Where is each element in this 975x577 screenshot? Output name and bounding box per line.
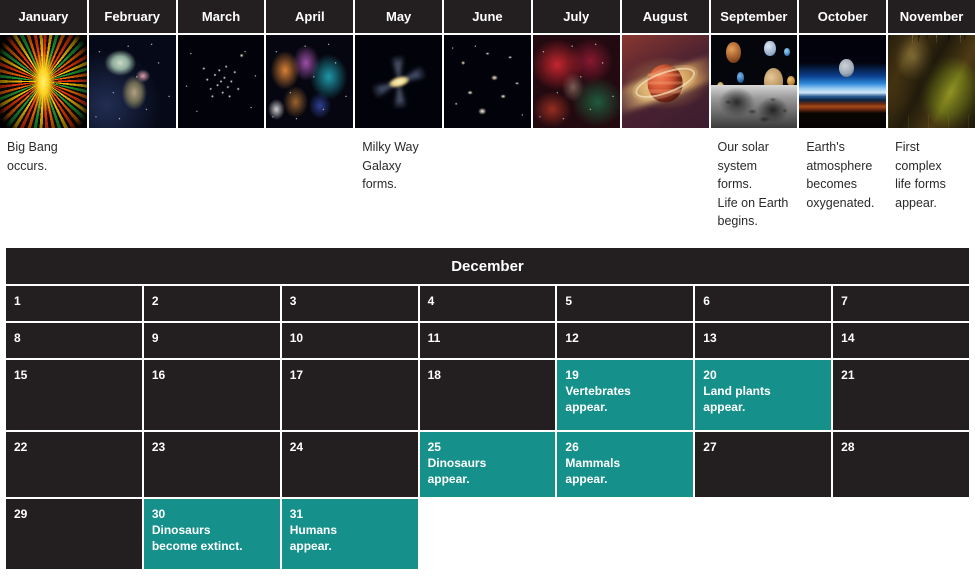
day-number: 21 — [841, 367, 961, 383]
december-title: December — [6, 248, 969, 284]
day-cell-26[interactable]: 26Mammals appear. — [557, 432, 693, 497]
star-cluster-image — [178, 35, 265, 128]
day-cell-6[interactable]: 6 — [695, 286, 831, 321]
day-number: 5 — [565, 293, 685, 309]
day-cell-19[interactable]: 19Vertebrates appear. — [557, 360, 693, 430]
planet-icon — [737, 72, 745, 83]
deep-field-galaxies-image — [444, 35, 531, 128]
day-number: 29 — [14, 506, 134, 522]
day-number: 28 — [841, 439, 961, 455]
day-number: 1 — [14, 293, 134, 309]
day-number: 4 — [428, 293, 548, 309]
day-cell-8[interactable]: 8 — [6, 323, 142, 358]
day-number: 3 — [290, 293, 410, 309]
month-column-march: March — [178, 0, 265, 231]
december-grid: 12345678910111213141516171819Vertebrates… — [6, 286, 969, 569]
day-number: 18 — [428, 367, 548, 383]
month-header-october[interactable]: October — [799, 0, 886, 33]
month-header-november[interactable]: November — [888, 0, 975, 33]
months-strip: JanuaryBig Bang occurs.FebruaryMarchApri… — [0, 0, 975, 231]
day-event-text: Dinosaurs appear. — [428, 455, 548, 487]
month-column-january: JanuaryBig Bang occurs. — [0, 0, 87, 231]
day-event-text: Humans appear. — [290, 522, 410, 554]
month-caption-november: First complex life forms appear. — [888, 138, 975, 212]
day-cell-empty — [420, 499, 556, 569]
month-caption-october: Earth's atmosphere becomes oxygenated. — [799, 138, 886, 212]
day-event-text: Dinosaurs become extinct. — [152, 522, 272, 554]
day-number: 26 — [565, 439, 685, 455]
day-number: 31 — [290, 506, 410, 522]
december-section: December 12345678910111213141516171819Ve… — [6, 248, 969, 569]
day-cell-3[interactable]: 3 — [282, 286, 418, 321]
day-number: 7 — [841, 293, 961, 309]
day-number: 27 — [703, 439, 823, 455]
day-number: 24 — [290, 439, 410, 455]
day-cell-10[interactable]: 10 — [282, 323, 418, 358]
spiral-galaxy-image — [355, 35, 442, 128]
month-column-september: SeptemberOur solar system forms. Life on… — [711, 0, 798, 231]
day-number: 13 — [703, 330, 823, 346]
complex-life-algae-image — [888, 35, 975, 128]
day-cell-5[interactable]: 5 — [557, 286, 693, 321]
day-number: 12 — [565, 330, 685, 346]
month-header-september[interactable]: September — [711, 0, 798, 33]
day-cell-13[interactable]: 13 — [695, 323, 831, 358]
day-cell-21[interactable]: 21 — [833, 360, 969, 430]
day-cell-28[interactable]: 28 — [833, 432, 969, 497]
day-cell-18[interactable]: 18 — [420, 360, 556, 430]
month-header-may[interactable]: May — [355, 0, 442, 33]
day-cell-31[interactable]: 31Humans appear. — [282, 499, 418, 569]
solar-system-planets-image — [711, 35, 798, 128]
day-number: 30 — [152, 506, 272, 522]
month-header-june[interactable]: June — [444, 0, 531, 33]
planet-icon — [726, 42, 741, 62]
day-number: 16 — [152, 367, 272, 383]
day-cell-15[interactable]: 15 — [6, 360, 142, 430]
day-number: 8 — [14, 330, 134, 346]
red-emission-nebula-image — [533, 35, 620, 128]
day-cell-empty — [695, 499, 831, 569]
nebula-pillar-image — [89, 35, 176, 128]
day-cell-2[interactable]: 2 — [144, 286, 280, 321]
day-number: 19 — [565, 367, 685, 383]
day-cell-empty — [833, 499, 969, 569]
month-header-march[interactable]: March — [178, 0, 265, 33]
day-number: 20 — [703, 367, 823, 383]
galaxy-cluster-image — [266, 35, 353, 128]
month-caption-january: Big Bang occurs. — [0, 138, 87, 175]
day-cell-11[interactable]: 11 — [420, 323, 556, 358]
stars-overlay — [89, 35, 176, 128]
day-number: 14 — [841, 330, 961, 346]
month-header-july[interactable]: July — [533, 0, 620, 33]
lunar-surface — [711, 85, 798, 128]
day-cell-22[interactable]: 22 — [6, 432, 142, 497]
month-header-february[interactable]: February — [89, 0, 176, 33]
stars-overlay — [266, 35, 353, 128]
day-number: 6 — [703, 293, 823, 309]
day-cell-20[interactable]: 20Land plants appear. — [695, 360, 831, 430]
day-event-text: Vertebrates appear. — [565, 383, 685, 415]
cosmic-calendar-page: JanuaryBig Bang occurs.FebruaryMarchApri… — [0, 0, 975, 577]
month-column-february: February — [89, 0, 176, 231]
day-number: 10 — [290, 330, 410, 346]
month-column-april: April — [266, 0, 353, 231]
day-cell-23[interactable]: 23 — [144, 432, 280, 497]
ringed-planet-forming-image — [622, 35, 709, 128]
day-cell-12[interactable]: 12 — [557, 323, 693, 358]
day-number: 9 — [152, 330, 272, 346]
day-cell-30[interactable]: 30Dinosaurs become extinct. — [144, 499, 280, 569]
day-cell-16[interactable]: 16 — [144, 360, 280, 430]
month-header-april[interactable]: April — [266, 0, 353, 33]
day-event-text: Land plants appear. — [703, 383, 823, 415]
month-column-may: MayMilky Way Galaxy forms. — [355, 0, 442, 231]
day-cell-24[interactable]: 24 — [282, 432, 418, 497]
day-cell-17[interactable]: 17 — [282, 360, 418, 430]
moon-icon — [839, 59, 854, 77]
day-event-text: Mammals appear. — [565, 455, 685, 487]
day-cell-9[interactable]: 9 — [144, 323, 280, 358]
day-number: 15 — [14, 367, 134, 383]
month-column-june: June — [444, 0, 531, 231]
stars-overlay — [533, 35, 620, 128]
day-cell-empty — [557, 499, 693, 569]
big-bang-explosion-image — [0, 35, 87, 128]
day-cell-1[interactable]: 1 — [6, 286, 142, 321]
day-number: 11 — [428, 330, 548, 346]
day-cell-4[interactable]: 4 — [420, 286, 556, 321]
month-column-august: August — [622, 0, 709, 231]
day-cell-29[interactable]: 29 — [6, 499, 142, 569]
day-cell-25[interactable]: 25Dinosaurs appear. — [420, 432, 556, 497]
day-number: 2 — [152, 293, 272, 309]
month-caption-september: Our solar system forms. Life on Earth be… — [711, 138, 798, 231]
planet-icon — [784, 48, 790, 56]
day-number: 17 — [290, 367, 410, 383]
day-number: 25 — [428, 439, 548, 455]
earth-atmosphere-limb-image — [799, 35, 886, 128]
day-number: 23 — [152, 439, 272, 455]
month-header-january[interactable]: January — [0, 0, 87, 33]
month-column-october: OctoberEarth's atmosphere becomes oxygen… — [799, 0, 886, 231]
planet-icon — [764, 41, 775, 57]
month-column-november: NovemberFirst complex life forms appear. — [888, 0, 975, 231]
day-cell-7[interactable]: 7 — [833, 286, 969, 321]
algae-strands — [888, 35, 975, 128]
day-cell-14[interactable]: 14 — [833, 323, 969, 358]
month-caption-may: Milky Way Galaxy forms. — [355, 138, 442, 194]
month-column-july: July — [533, 0, 620, 231]
day-cell-27[interactable]: 27 — [695, 432, 831, 497]
month-header-august[interactable]: August — [622, 0, 709, 33]
day-number: 22 — [14, 439, 134, 455]
